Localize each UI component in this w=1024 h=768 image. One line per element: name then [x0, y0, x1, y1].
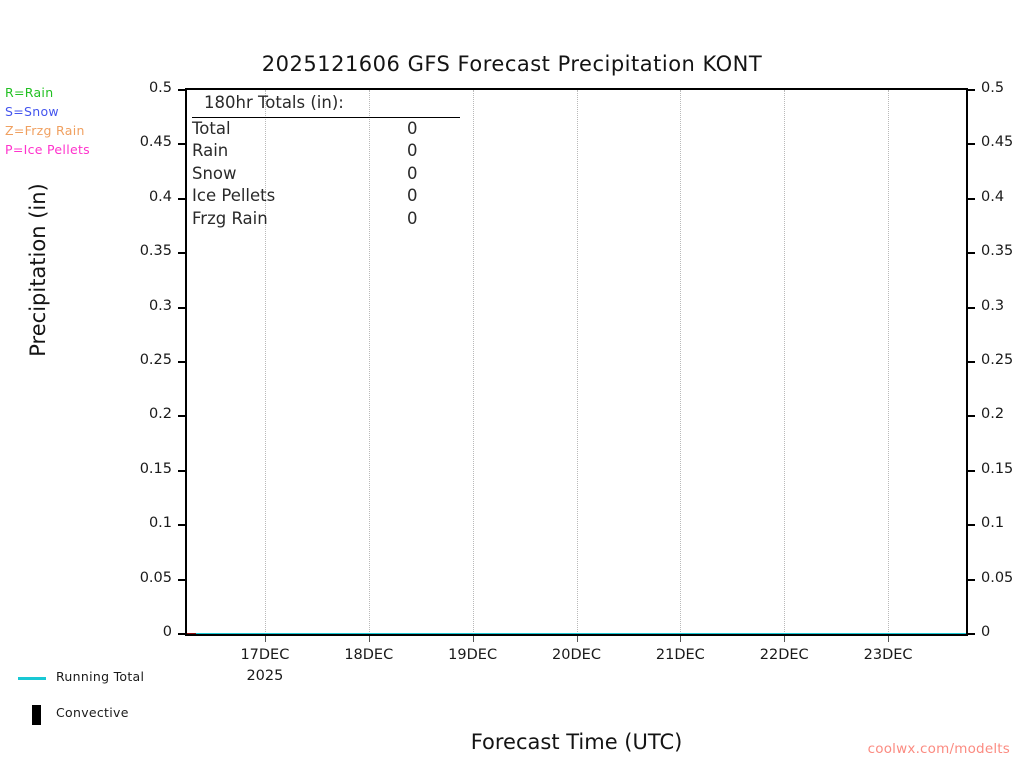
totals-value-ice-pellets: 0: [407, 185, 418, 208]
gridline-vertical: [888, 90, 889, 634]
y-axis-tick-left: [178, 524, 185, 526]
y-axis-tick-left: [178, 307, 185, 309]
y-axis-tick-left: [178, 470, 185, 472]
running-total-swatch-icon: [18, 677, 46, 680]
zero-line-start-marker: [187, 633, 196, 635]
page-title: 2025121606 GFS Forecast Precipitation KO…: [0, 52, 1024, 76]
x-axis-tick: [888, 636, 889, 642]
x-axis-tick: [473, 636, 474, 642]
x-axis-tick: [265, 636, 266, 642]
y-axis-tick-left: [178, 415, 185, 417]
y-axis-tick-left: [178, 252, 185, 254]
y-axis-tick-label-right: 0.15: [981, 461, 1024, 477]
totals-box: 180hr Totals (in): Total 0 Rain 0 Snow 0…: [192, 92, 482, 230]
legend-item-rain: R=Rain: [5, 83, 90, 102]
y-axis-tick-label-left: 0.35: [88, 243, 172, 259]
y-axis-tick-label-left: 0: [88, 624, 172, 640]
y-axis-tick-label-right: 0.05: [981, 570, 1024, 586]
watermark: coolwx.com/modelts: [868, 741, 1010, 757]
y-axis-tick-right: [968, 579, 975, 581]
y-axis-tick-label-left: 0.1: [88, 515, 172, 531]
y-axis-tick-label-left: 0.4: [88, 189, 172, 205]
y-axis-tick-label-left: 0.15: [88, 461, 172, 477]
y-axis-tick-left: [178, 143, 185, 145]
y-axis-tick-left: [178, 633, 185, 635]
y-axis-tick-right: [968, 307, 975, 309]
y-axis-tick-right: [968, 633, 975, 635]
y-axis-tick-label-right: 0: [981, 624, 1024, 640]
totals-row: Snow 0: [192, 163, 482, 186]
x-axis-tick: [577, 636, 578, 642]
x-axis-tick-label: 17DEC: [205, 647, 325, 663]
running-total-line: [187, 633, 966, 635]
gridline-vertical: [577, 90, 578, 634]
legend-label-convective: Convective: [56, 705, 129, 720]
y-axis-tick-label-left: 0.05: [88, 570, 172, 586]
totals-value-snow: 0: [407, 163, 418, 186]
y-axis-tick-left: [178, 89, 185, 91]
y-axis-title: Precipitation (in): [26, 125, 50, 415]
y-axis-tick-label-left: 0.2: [88, 406, 172, 422]
y-axis-tick-right: [968, 89, 975, 91]
x-axis-tick: [369, 636, 370, 642]
y-axis-tick-label-right: 0.2: [981, 406, 1024, 422]
gridline-vertical: [680, 90, 681, 634]
convective-swatch-icon: [32, 705, 41, 725]
y-axis-tick-right: [968, 361, 975, 363]
y-axis-tick-right: [968, 470, 975, 472]
totals-row: Total 0: [192, 118, 482, 141]
y-axis-tick-left: [178, 579, 185, 581]
legend-item-snow: S=Snow: [5, 102, 90, 121]
y-axis-tick-label-right: 0.4: [981, 189, 1024, 205]
y-axis-tick-label-left: 0.45: [88, 134, 172, 150]
y-axis-tick-label-left: 0.3: [88, 298, 172, 314]
x-axis-tick-label: 19DEC: [413, 647, 533, 663]
y-axis-tick-left: [178, 361, 185, 363]
legend-label-running-total: Running Total: [56, 669, 144, 684]
totals-label-snow: Snow: [192, 163, 237, 186]
x-axis-tick-label: 22DEC: [724, 647, 844, 663]
y-axis-tick-label-right: 0.3: [981, 298, 1024, 314]
y-axis-tick-left: [178, 198, 185, 200]
totals-row: Rain 0: [192, 140, 482, 163]
totals-label-total: Total: [192, 118, 231, 141]
x-axis-tick-label: 21DEC: [620, 647, 740, 663]
y-axis-tick-label-right: 0.1: [981, 515, 1024, 531]
x-axis-tick-label: 23DEC: [828, 647, 948, 663]
totals-label-rain: Rain: [192, 140, 228, 163]
y-axis-tick-label-right: 0.45: [981, 134, 1024, 150]
totals-value-total: 0: [407, 118, 418, 141]
x-axis-tick-label: 20DEC: [517, 647, 637, 663]
y-axis-tick-right: [968, 143, 975, 145]
totals-value-frzg-rain: 0: [407, 208, 418, 231]
x-axis-title: Forecast Time (UTC): [185, 730, 968, 754]
y-axis-tick-right: [968, 198, 975, 200]
y-axis-tick-right: [968, 415, 975, 417]
y-axis-tick-right: [968, 524, 975, 526]
y-axis-tick-label-right: 0.35: [981, 243, 1024, 259]
x-axis-tick: [680, 636, 681, 642]
x-axis-tick-label: 18DEC: [309, 647, 429, 663]
totals-label-frzg-rain: Frzg Rain: [192, 208, 268, 231]
y-axis-tick-label-left: 0.5: [88, 80, 172, 96]
totals-row: Frzg Rain 0: [192, 208, 482, 231]
y-axis-tick-label-right: 0.25: [981, 352, 1024, 368]
y-axis-tick-right: [968, 252, 975, 254]
totals-value-rain: 0: [407, 140, 418, 163]
totals-label-ice-pellets: Ice Pellets: [192, 185, 275, 208]
y-axis-tick-label-right: 0.5: [981, 80, 1024, 96]
x-axis-tick: [784, 636, 785, 642]
y-axis-tick-label-left: 0.25: [88, 352, 172, 368]
totals-box-heading: 180hr Totals (in):: [192, 92, 460, 118]
totals-row: Ice Pellets 0: [192, 185, 482, 208]
x-axis-year-label: 2025: [205, 668, 325, 684]
gridline-vertical: [784, 90, 785, 634]
